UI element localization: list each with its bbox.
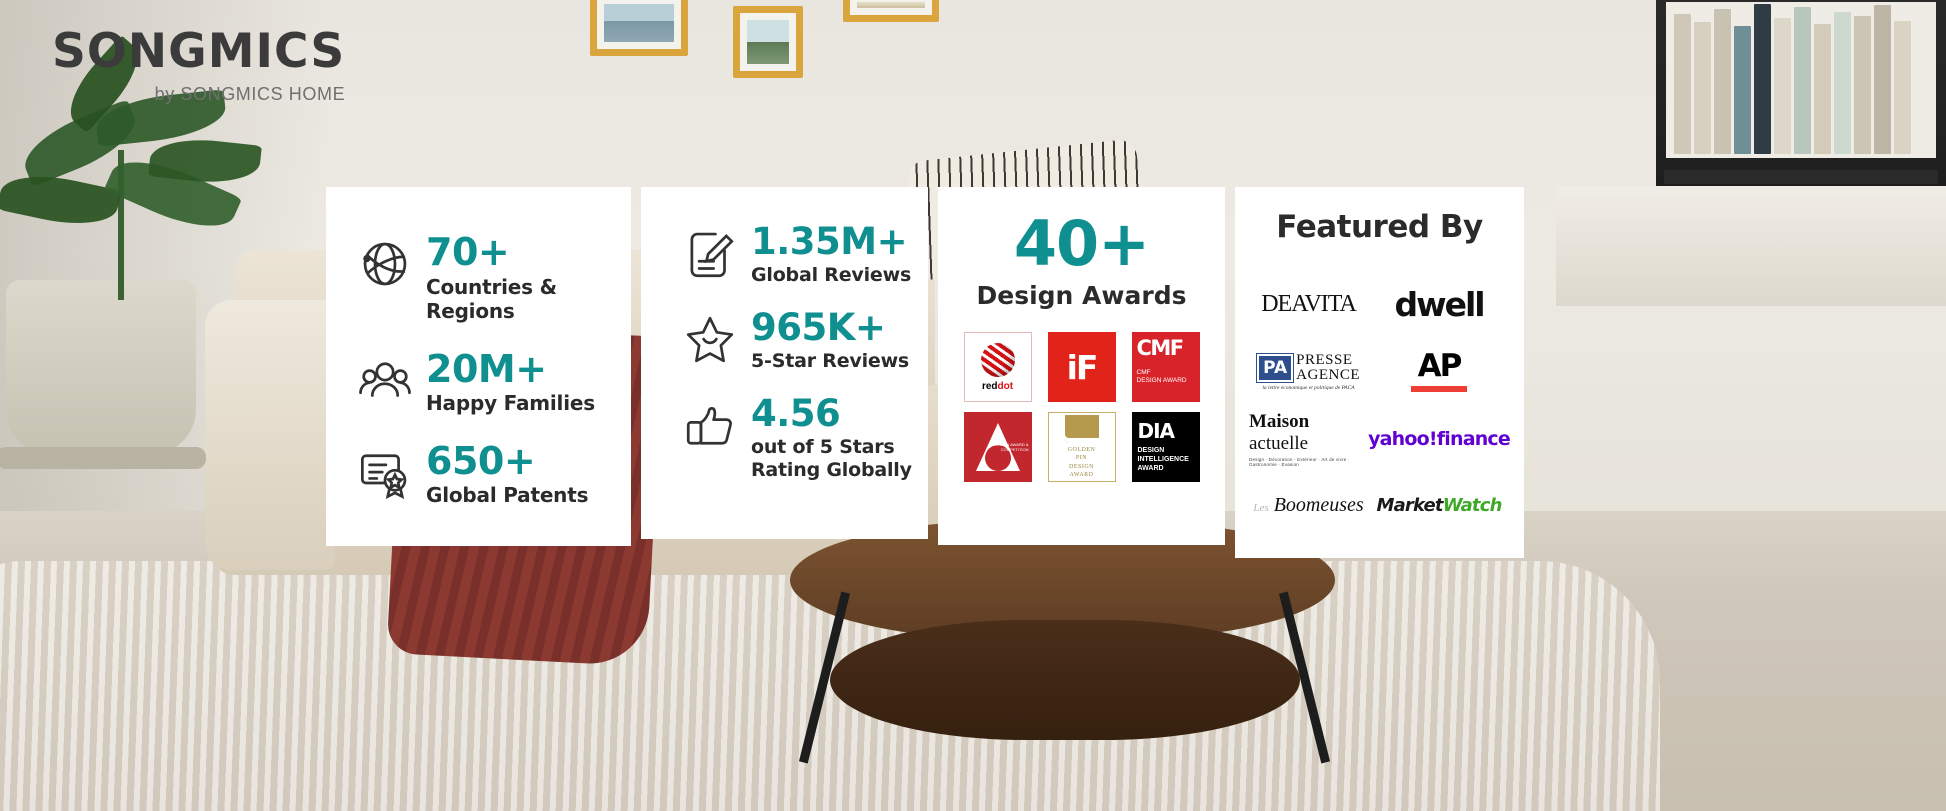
boomeuses-text-a: Les	[1253, 502, 1268, 514]
goldenpin-mark-icon	[1065, 415, 1099, 443]
maison-tagline: Design · Décoration · Extérieur · Art de…	[1249, 457, 1368, 467]
featured-title: Featured By	[1235, 209, 1524, 245]
stat-value: 1.35M+	[751, 223, 911, 261]
pa-badge: PA	[1257, 354, 1293, 382]
card-company-stats: 70+ Countries & Regions 20M+ Happy Famil…	[326, 187, 631, 546]
award-logo-reddot: reddot	[964, 332, 1032, 402]
presse-tagline: la lettre économique et politique de PAC…	[1262, 385, 1354, 391]
globe-icon	[356, 235, 414, 293]
maison-text-b: actuelle	[1249, 433, 1308, 454]
coffee-table-lower	[830, 620, 1300, 740]
stat-patents: 650+ Global Patents	[326, 442, 631, 508]
brand-logo: SONGMICS by SONGMICS HOME	[52, 28, 345, 105]
maison-text-a: Maison	[1249, 411, 1309, 432]
featured-logo-presse-agence: PA PRESSE AGENCE la lettre économique et…	[1249, 338, 1368, 405]
dia-mark: DIA	[1138, 421, 1175, 441]
books	[1674, 4, 1911, 154]
marketwatch-text-a: Market	[1376, 495, 1442, 516]
adesign-caption: A'DESIGN AWARD & COMPETITION	[964, 442, 1029, 452]
stat-rating: 4.56 out of 5 Stars Rating Globally	[641, 395, 928, 482]
stat-families: 20M+ Happy Families	[326, 350, 631, 416]
featured-logo-yahoo-finance: yahoo!finance	[1368, 405, 1510, 472]
marketwatch-text-b: Watch	[1443, 495, 1502, 516]
card-featured-by: Featured By DEAVITA dwell PA PRESSE AGEN…	[1235, 187, 1524, 558]
card-design-awards: 40+ Design Awards reddot iF CMF CMF DESI…	[938, 187, 1225, 545]
award-logo-goldenpin: GOLDEN PIN DESIGN AWARD	[1048, 412, 1116, 482]
wall-frame-2	[733, 6, 803, 78]
wall-frame-1	[590, 0, 688, 56]
presse-line2: AGENCE	[1296, 368, 1360, 383]
stat-countries: 70+ Countries & Regions	[326, 233, 631, 324]
awards-count: 40+	[938, 213, 1225, 275]
stat-label: Global Reviews	[751, 264, 911, 287]
stat-value: 20M+	[426, 350, 595, 389]
featured-logo-les-boomeuses: Les Boomeuses	[1249, 472, 1368, 539]
dwell-text: dwell	[1394, 285, 1483, 324]
brand-name: SONGMICS	[52, 28, 345, 75]
stat-global-reviews: 1.35M+ Global Reviews	[641, 223, 928, 287]
thumbs-up-icon	[681, 397, 739, 455]
presse-line1: PRESSE	[1296, 353, 1360, 368]
plant-pot	[6, 280, 196, 455]
reddot-text-a: red	[982, 381, 998, 392]
cabinet	[1556, 186, 1946, 306]
reddot-sphere-icon	[981, 343, 1015, 377]
sofa-armrest	[205, 300, 335, 570]
stat-label: out of 5 Stars Rating Globally	[751, 436, 912, 482]
goldenpin-caption: GOLDEN PIN DESIGN AWARD	[1068, 446, 1096, 478]
bookshelf	[1656, 0, 1946, 194]
featured-logo-dwell: dwell	[1368, 271, 1510, 338]
people-group-icon	[356, 352, 414, 410]
if-text: iF	[1067, 351, 1097, 384]
stat-label: Countries & Regions	[426, 275, 631, 324]
yahoo-text: yahoo!finance	[1368, 428, 1510, 450]
card-review-stats: 1.35M+ Global Reviews 965K+ 5-Star Revie…	[641, 187, 928, 539]
stat-label: 5-Star Reviews	[751, 350, 909, 373]
stat-value: 4.56	[751, 395, 912, 433]
featured-logo-maison-actuelle: Maison actuelle Design · Décoration · Ex…	[1249, 405, 1368, 472]
awards-header: 40+ Design Awards	[938, 213, 1225, 310]
stat-value: 965K+	[751, 309, 909, 347]
dia-caption: DESIGN INTELLIGENCE AWARD	[1138, 446, 1189, 473]
review-pencil-icon	[681, 225, 739, 283]
boomeuses-text-b: Boomeuses	[1274, 494, 1364, 516]
deavita-text: DEAVITA	[1261, 291, 1356, 318]
award-logo-grid: reddot iF CMF CMF DESIGN AWARD A'DESIGN …	[961, 332, 1203, 482]
award-logo-adesign: A'DESIGN AWARD & COMPETITION	[964, 412, 1032, 482]
stat-label: Global Patents	[426, 483, 588, 507]
ap-red-bar	[1411, 386, 1467, 392]
featured-logo-deavita: DEAVITA	[1249, 271, 1368, 338]
featured-logo-grid: DEAVITA dwell PA PRESSE AGENCE la lettre…	[1235, 271, 1524, 539]
featured-logo-ap: AP	[1368, 338, 1510, 405]
stat-value: 70+	[426, 233, 631, 272]
reddot-text-b: dot	[998, 381, 1014, 392]
wall-frame-3	[843, 0, 939, 22]
brand-tagline: by SONGMICS HOME	[52, 84, 345, 105]
featured-logo-marketwatch: MarketWatch	[1368, 472, 1510, 539]
cmf-caption: CMF DESIGN AWARD	[1137, 369, 1187, 385]
award-logo-if: iF	[1048, 332, 1116, 402]
stat-five-star-reviews: 965K+ 5-Star Reviews	[641, 309, 928, 373]
certificate-badge-icon	[356, 444, 414, 502]
stat-label: Happy Families	[426, 391, 595, 415]
award-logo-cmf: CMF CMF DESIGN AWARD	[1132, 332, 1200, 402]
stats-card-row: 70+ Countries & Regions 20M+ Happy Famil…	[326, 187, 1524, 558]
award-logo-dia: DIA DESIGN INTELLIGENCE AWARD	[1132, 412, 1200, 482]
awards-label: Design Awards	[938, 281, 1225, 310]
stat-value: 650+	[426, 442, 588, 481]
ap-text: AP	[1418, 351, 1461, 382]
cmf-mark: CMF	[1137, 338, 1183, 359]
star-smile-icon	[681, 311, 739, 369]
